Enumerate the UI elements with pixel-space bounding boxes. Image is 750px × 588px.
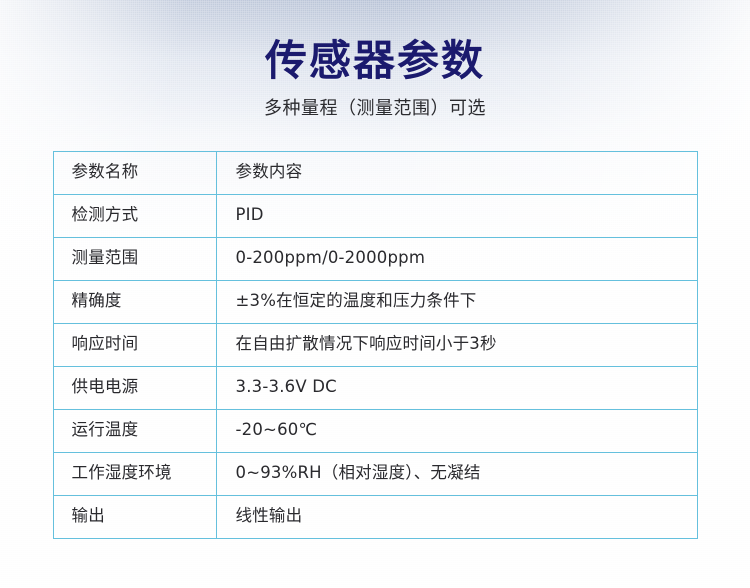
page-subtitle: 多种量程（测量范围）可选 [0, 98, 750, 120]
column-header-value: 参数内容 [216, 151, 697, 194]
cell-parameter-value: -20~60℃ [216, 409, 697, 452]
page-header: 传感器参数 多种量程（测量范围）可选 [0, 0, 750, 120]
cell-parameter-value: ±3%在恒定的温度和压力条件下 [216, 280, 697, 323]
spec-table-container: 参数名称参数内容检测方式PID测量范围0-200ppm/0-2000ppm精确度… [53, 151, 698, 539]
cell-parameter-name: 运行温度 [53, 409, 216, 452]
page-root: 传感器参数 多种量程（测量范围）可选 参数名称参数内容检测方式PID测量范围0-… [0, 0, 750, 588]
cell-parameter-name: 检测方式 [53, 194, 216, 237]
table-row: 参数名称参数内容 [53, 151, 697, 194]
cell-parameter-value: 0-200ppm/0-2000ppm [216, 237, 697, 280]
cell-parameter-name: 供电电源 [53, 366, 216, 409]
table-row: 供电电源3.3-3.6V DC [53, 366, 697, 409]
table-row: 运行温度-20~60℃ [53, 409, 697, 452]
cell-parameter-name: 输出 [53, 495, 216, 538]
cell-parameter-value: 3.3-3.6V DC [216, 366, 697, 409]
cell-parameter-value: 在自由扩散情况下响应时间小于3秒 [216, 323, 697, 366]
cell-parameter-name: 工作湿度环境 [53, 452, 216, 495]
spec-table-body: 参数名称参数内容检测方式PID测量范围0-200ppm/0-2000ppm精确度… [53, 151, 697, 538]
table-row: 测量范围0-200ppm/0-2000ppm [53, 237, 697, 280]
cell-parameter-name: 测量范围 [53, 237, 216, 280]
cell-parameter-value: 0~93%RH（相对湿度）、无凝结 [216, 452, 697, 495]
table-row: 精确度±3%在恒定的温度和压力条件下 [53, 280, 697, 323]
cell-parameter-name: 响应时间 [53, 323, 216, 366]
table-row: 检测方式PID [53, 194, 697, 237]
table-row: 输出线性输出 [53, 495, 697, 538]
table-row: 工作湿度环境0~93%RH（相对湿度）、无凝结 [53, 452, 697, 495]
cell-parameter-value: PID [216, 194, 697, 237]
cell-parameter-name: 精确度 [53, 280, 216, 323]
column-header-name: 参数名称 [53, 151, 216, 194]
cell-parameter-value: 线性输出 [216, 495, 697, 538]
table-row: 响应时间在自由扩散情况下响应时间小于3秒 [53, 323, 697, 366]
page-title: 传感器参数 [0, 37, 750, 84]
spec-table: 参数名称参数内容检测方式PID测量范围0-200ppm/0-2000ppm精确度… [53, 151, 698, 539]
